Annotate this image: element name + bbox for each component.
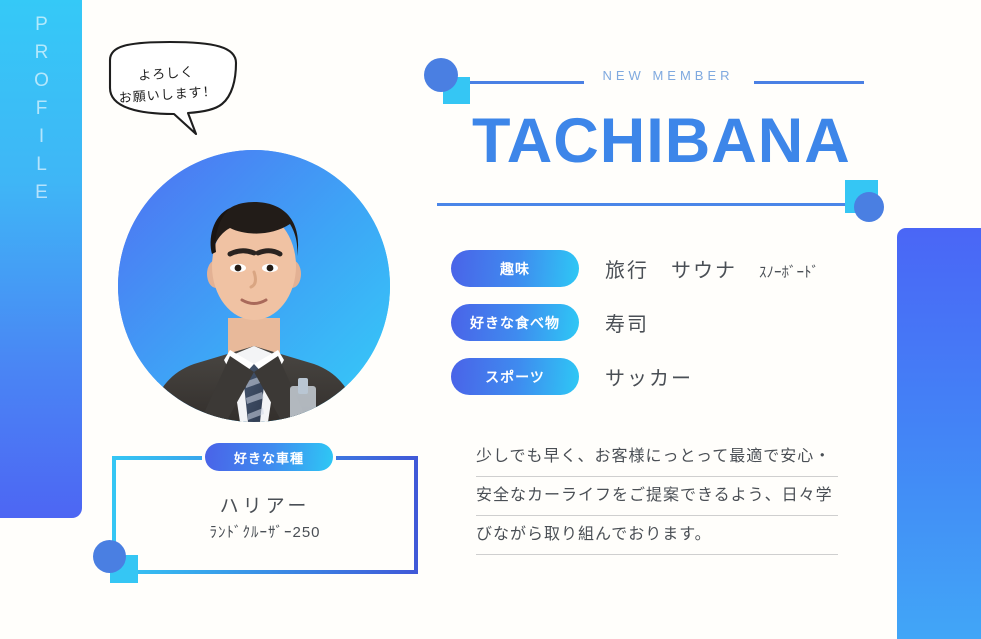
info-value-hobby: 旅行 サウナ ｽﾉｰﾎﾞｰﾄﾞ <box>605 254 819 283</box>
info-value-sports: サッカー <box>605 362 693 391</box>
eyebrow-banner: NEW MEMBER <box>424 58 864 94</box>
info-label-sports: スポーツ <box>451 358 579 395</box>
portrait-illustration <box>118 150 390 422</box>
rule-circle-accent <box>854 192 884 222</box>
portrait <box>118 150 390 422</box>
favorite-car-box: 好きな車種 ハリアー ﾗﾝﾄﾞｸﾙｰｻﾞｰ250 <box>110 455 420 575</box>
favorite-car-value-1: ハリアー <box>110 491 420 518</box>
profile-vertical-label: PROFILE <box>30 14 52 210</box>
eyebrow-label: NEW MEMBER <box>592 68 744 83</box>
eyebrow-circle-accent <box>424 58 458 92</box>
favorite-car-label: 好きな車種 <box>205 443 333 471</box>
message-paragraph: 少しでも早く、お客様にっとって最適で安心・ 安全なカーライフをご提案できるよう、… <box>476 438 838 555</box>
info-label-hobby: 趣味 <box>451 250 579 287</box>
name-underline-rule <box>437 203 858 206</box>
eyebrow-rule-right <box>754 81 864 84</box>
favorite-car-circle-accent <box>93 540 126 573</box>
message-line-3: びながら取り組んでおります。 <box>476 516 838 555</box>
info-value-favorite-food: 寿司 <box>605 308 649 337</box>
favorite-car-value-2: ﾗﾝﾄﾞｸﾙｰｻﾞｰ250 <box>110 521 420 542</box>
info-value-hobby-extra: ｽﾉｰﾎﾞｰﾄﾞ <box>759 264 819 281</box>
message-line-1: 少しでも早く、お客様にっとって最適で安心・ <box>476 438 838 477</box>
info-value-hobby-main: 旅行 サウナ <box>605 260 759 282</box>
profile-card: PROFILE <box>0 0 981 639</box>
info-row-favorite-food: 好きな食べ物 寿司 <box>451 304 819 341</box>
info-list: 趣味 旅行 サウナ ｽﾉｰﾎﾞｰﾄﾞ 好きな食べ物 寿司 スポーツ サッカー <box>451 250 819 412</box>
info-row-hobby: 趣味 旅行 サウナ ｽﾉｰﾎﾞｰﾄﾞ <box>451 250 819 287</box>
speech-bubble: よろしく お願いします！ <box>96 38 248 150</box>
right-accent-bar <box>897 228 981 639</box>
portrait-photo <box>118 150 390 422</box>
left-accent-bar: PROFILE <box>0 0 82 518</box>
member-name: TACHIBANA <box>472 110 851 173</box>
info-label-favorite-food: 好きな食べ物 <box>451 304 579 341</box>
eyebrow-rule-left <box>469 81 584 84</box>
message-line-2: 安全なカーライフをご提案できるよう、日々学 <box>476 477 838 516</box>
info-row-sports: スポーツ サッカー <box>451 358 819 395</box>
